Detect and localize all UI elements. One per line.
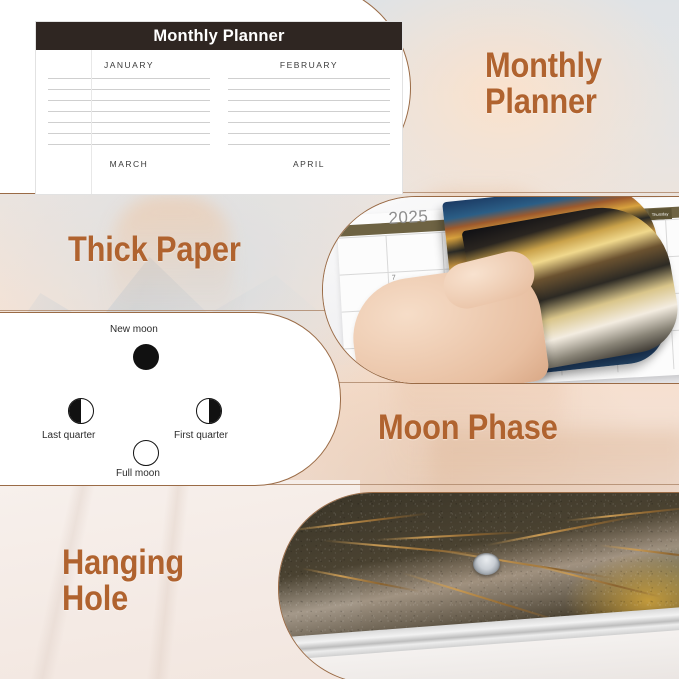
planner-month-column: MARCH bbox=[48, 159, 210, 169]
moon-label-last-quarter: Last quarter bbox=[42, 430, 95, 441]
first-quarter-icon bbox=[196, 398, 222, 424]
planner-month-label: FEBRUARY bbox=[228, 60, 390, 70]
heading-thick-paper: Thick Paper bbox=[68, 232, 241, 268]
moon-label-full-moon: Full moon bbox=[116, 468, 160, 479]
heading-line-1: Moon Phase bbox=[378, 410, 558, 446]
moon-phase-diagram: New moon Last quarter First quarter Full… bbox=[0, 316, 340, 481]
planner-left-rule bbox=[91, 50, 92, 194]
planner-month-column: FEBRUARY bbox=[228, 60, 390, 155]
heading-line-1: Hanging bbox=[62, 545, 184, 581]
photo-thick-paper: 2025 Sunday Monday Tuesday Wednesday Thu… bbox=[322, 196, 679, 384]
planner-month-column: APRIL bbox=[228, 159, 390, 169]
calendar-year: 2025 bbox=[388, 207, 429, 229]
heading-line-2: Hole bbox=[62, 581, 184, 617]
planner-month-label: JANUARY bbox=[48, 60, 210, 70]
planner-title: Monthly Planner bbox=[153, 27, 284, 46]
heading-hanging-hole: Hanging Hole bbox=[62, 545, 184, 616]
last-quarter-icon bbox=[68, 398, 94, 424]
heading-moon-phase: Moon Phase bbox=[378, 410, 558, 446]
heading-line-1: Thick Paper bbox=[68, 232, 241, 268]
section-divider-2 bbox=[0, 310, 340, 311]
product-feature-infographic: Monthly Planner JANUARY FEBRUARY MARCH A… bbox=[0, 0, 679, 679]
full-moon-icon bbox=[133, 440, 159, 466]
moon-label-first-quarter: First quarter bbox=[174, 430, 228, 441]
heading-line-2: Planner bbox=[485, 84, 602, 120]
hanging-hole-icon bbox=[473, 553, 500, 575]
planner-month-label: MARCH bbox=[48, 159, 210, 169]
heading-line-1: Monthly bbox=[485, 48, 602, 84]
heading-monthly-planner: Monthly Planner bbox=[485, 48, 602, 119]
photo-hanging-hole bbox=[278, 492, 679, 679]
planner-title-bar: Monthly Planner bbox=[36, 22, 402, 50]
planner-month-column: JANUARY bbox=[48, 60, 210, 155]
monthly-planner-card: Monthly Planner JANUARY FEBRUARY MARCH A… bbox=[36, 22, 402, 194]
planner-month-label: APRIL bbox=[228, 159, 390, 169]
moon-label-new-moon: New moon bbox=[110, 324, 158, 335]
new-moon-icon bbox=[133, 344, 159, 370]
